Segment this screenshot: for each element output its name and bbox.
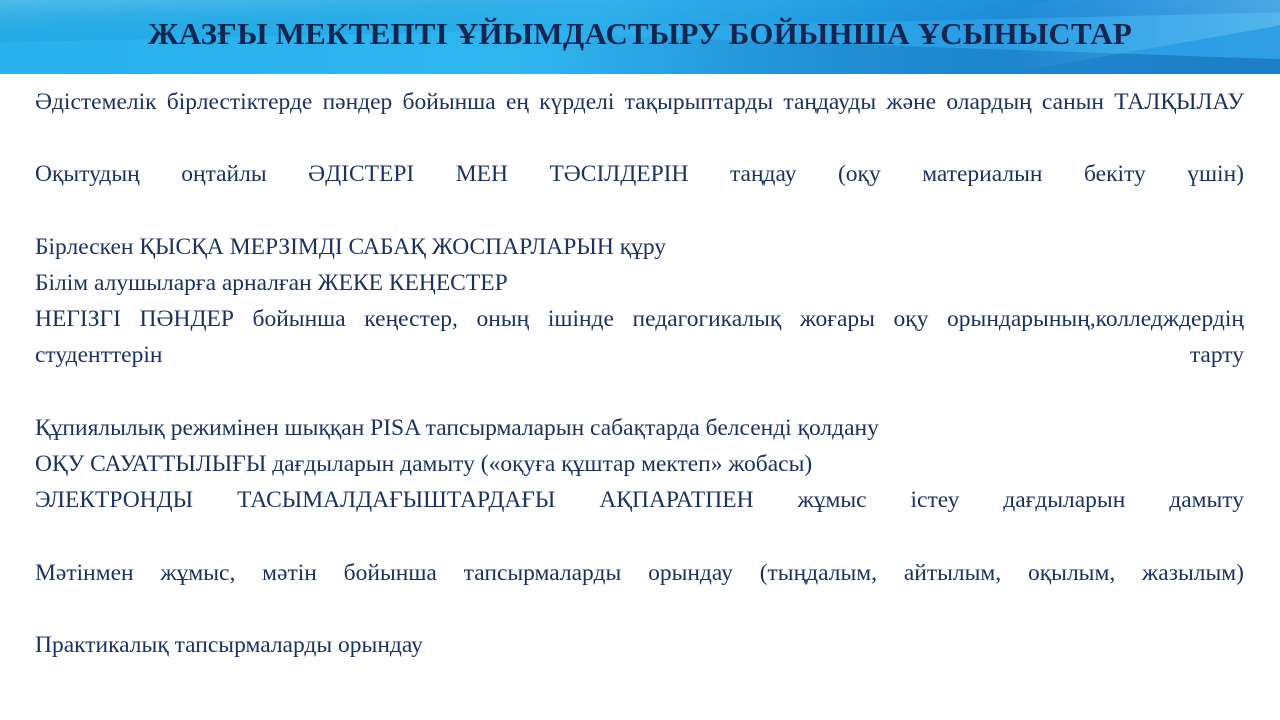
body-paragraph-1: Әдістемелік бірлестіктерде пәндер бойынш… (35, 84, 1244, 156)
body-paragraph-5: НЕГІЗГІ ПӘНДЕР бойынша кеңестер, оның іш… (35, 301, 1244, 410)
body-paragraph-4: Білім алушыларға арналған ЖЕКЕ КЕҢЕСТЕР (35, 265, 1244, 301)
slide-header-banner: ЖАЗҒЫ МЕКТЕПТІ ҰЙЫМДАСТЫРУ БОЙЫНША ҰСЫНЫ… (0, 0, 1280, 74)
slide-title: ЖАЗҒЫ МЕКТЕПТІ ҰЙЫМДАСТЫРУ БОЙЫНША ҰСЫНЫ… (0, 0, 1280, 70)
body-paragraph-7: ОҚУ САУАТТЫЛЫҒЫ дағдыларын дамыту («оқуғ… (35, 446, 1244, 482)
body-paragraph-10: Практикалық тапсырмаларды орындау (35, 627, 1244, 663)
body-paragraph-2: Оқытудың оңтайлы ӘДІСТЕРІ МЕН ТӘСІЛДЕРІН… (35, 156, 1244, 228)
body-paragraph-8: ЭЛЕКТРОНДЫ ТАСЫМАЛДАҒЫШТАРДАҒЫ АҚПАРАТПЕ… (35, 482, 1244, 554)
slide-body: Әдістемелік бірлестіктерде пәндер бойынш… (35, 84, 1244, 663)
body-paragraph-9: Мәтінмен жұмыс, мәтін бойынша тапсырмала… (35, 555, 1244, 627)
body-paragraph-6: Құпиялылық режимінен шыққан PISA тапсырм… (35, 410, 1244, 446)
body-paragraph-3: Бірлескен ҚЫСҚА МЕРЗІМДІ САБАҚ ЖОСПАРЛАР… (35, 229, 1244, 265)
